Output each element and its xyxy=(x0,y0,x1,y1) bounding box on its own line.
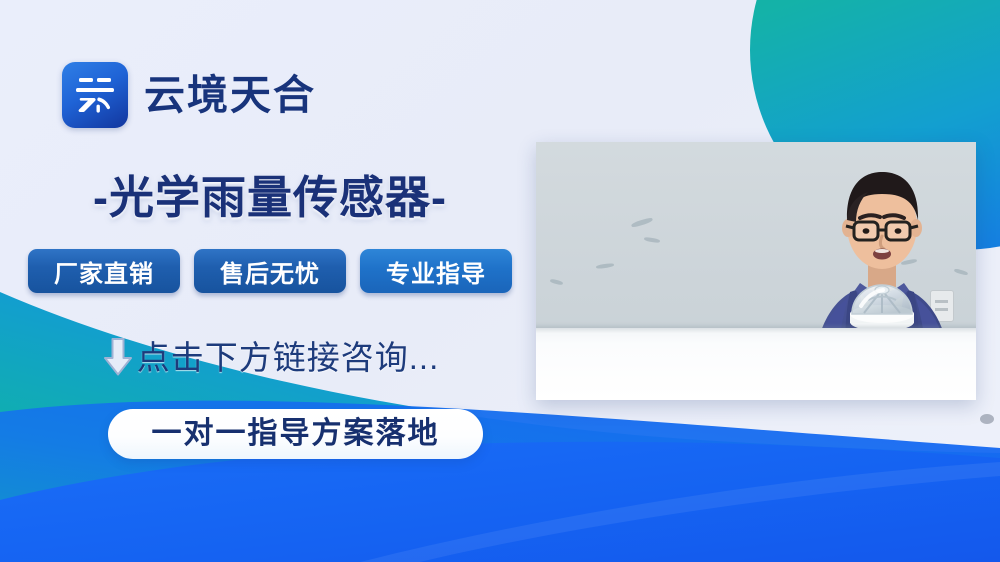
badge-after-sales[interactable]: 售后无忧 xyxy=(194,249,346,293)
yunjing-cloud-logo-icon xyxy=(62,62,128,128)
presenter-video[interactable] xyxy=(536,142,976,400)
corner-watermark-dot xyxy=(980,414,994,424)
one-on-one-pill[interactable]: 一对一指导方案落地 xyxy=(108,409,483,459)
feature-badges: 厂家直销 售后无忧 专业指导 xyxy=(0,249,540,293)
video-table-surface xyxy=(536,328,976,400)
cta-line: 点击下方链接咨询... xyxy=(0,336,540,378)
badge-factory-direct[interactable]: 厂家直销 xyxy=(28,249,180,293)
one-on-one-pill-label: 一对一指导方案落地 xyxy=(152,419,440,449)
brand-logo-row: 云境天合 xyxy=(62,62,316,128)
cta-text: 点击下方链接咨询... xyxy=(137,341,440,374)
arrow-down-icon xyxy=(101,336,135,378)
page-title: -光学雨量传感器- xyxy=(0,175,540,220)
brand-name: 云境天合 xyxy=(144,75,316,116)
badge-professional-guidance[interactable]: 专业指导 xyxy=(360,249,512,293)
promo-poster: 云境天合 -光学雨量传感器- 厂家直销 售后无忧 专业指导 点击下方链接咨询..… xyxy=(0,0,1000,562)
